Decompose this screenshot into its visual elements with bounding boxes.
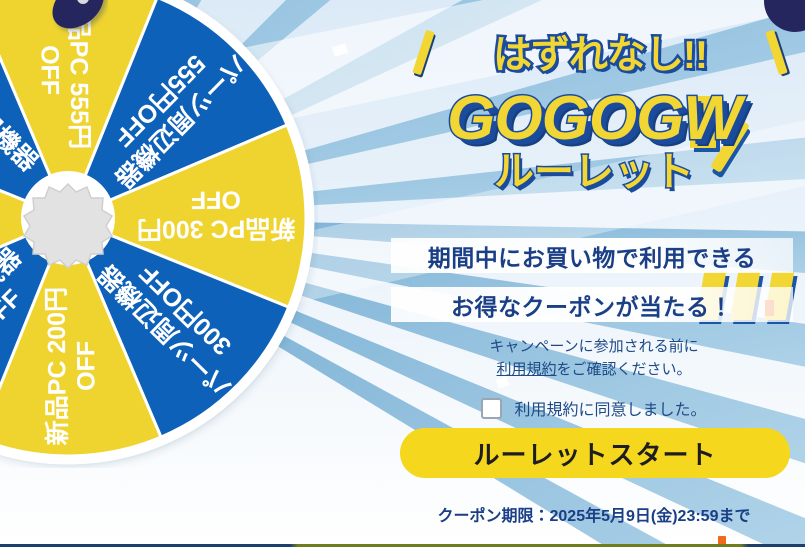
logo-sub: ルーレット [383,152,805,192]
terms-note-line-2: 利用規約をご確認ください。 [383,358,805,381]
roulette-wheel[interactable]: パーツ周辺機器555円OFF新品PC 300円OFFパーツ周辺機器300円OFF… [0,0,318,468]
coupon-expiry: クーポン期限：2025年5月9日(金)23:59まで [383,502,805,526]
terms-note-line-1: キャンペーンに参加される前に [383,335,805,358]
description-line-2: お得なクーポンが当たる！ [451,288,733,322]
kicker-block: はずれなし!! [395,18,805,84]
campaign-banner: パーツ周辺機器555円OFF新品PC 300円OFFパーツ周辺機器300円OFF… [0,0,805,547]
terms-note-suffix: をご確認ください。 [557,361,692,378]
teardrop-pointer-icon [48,0,108,36]
agree-checkbox[interactable] [481,398,502,419]
description-band-2: お得なクーポンが当たる！ [391,287,793,322]
terms-link[interactable]: 利用規約 [496,361,556,378]
description-line-1: 期間中にお買い物で利用できる [428,239,757,273]
kicker-text: はずれなし!! [395,24,805,80]
campaign-logo: GOGOGW ルーレット [383,88,805,192]
promo-panel: はずれなし!! GOGOGW ルーレット 期間中にお買い物で利用できる お得なク… [383,0,805,547]
description-band-1: 期間中にお買い物で利用できる [391,238,793,273]
agree-row[interactable]: 利用規約に同意しました。 [383,396,805,420]
start-roulette-button[interactable]: ルーレットスタート [400,428,790,478]
logo-main: GOGOGW [383,88,805,150]
terms-note: キャンペーンに参加される前に 利用規約をご確認ください。 [383,335,805,382]
agree-label: 利用規約に同意しました。 [514,396,706,420]
